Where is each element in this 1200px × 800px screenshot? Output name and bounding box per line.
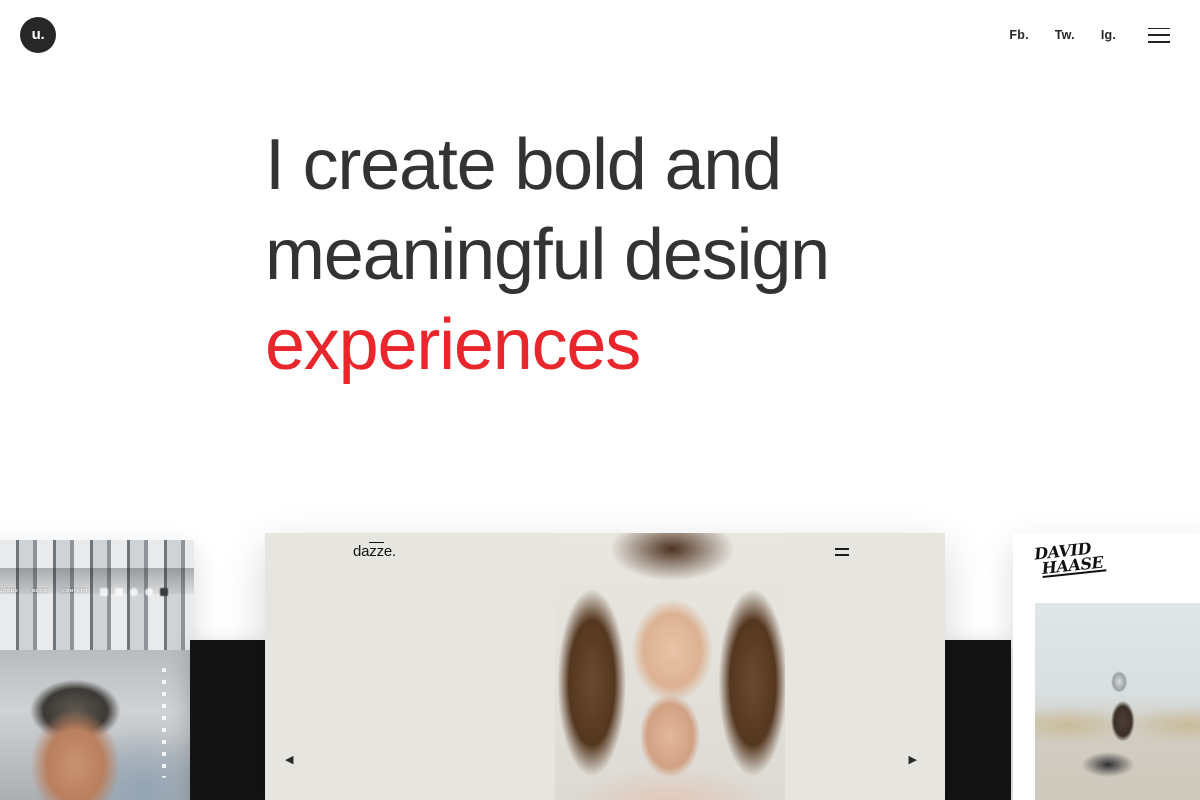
dazze-logo: dazze. bbox=[353, 543, 396, 560]
dazze-logo-suffix: e. bbox=[384, 543, 396, 560]
project-card-solucoes[interactable]: SOLUÇÕES BLOG CONTATO bbox=[0, 540, 194, 800]
dazze-logo-prefix: da bbox=[353, 543, 369, 560]
hero-headline-accent: experiences bbox=[265, 300, 1165, 390]
dark-slab-left bbox=[190, 640, 268, 800]
carousel-next-arrow-icon[interactable]: ▶ bbox=[909, 755, 917, 766]
dazze-logo-mid: zz bbox=[369, 542, 384, 560]
youtube-icon[interactable] bbox=[160, 588, 168, 596]
menu-line bbox=[1148, 34, 1170, 36]
nav-item-solucoes[interactable]: SOLUÇÕES bbox=[0, 588, 18, 593]
menu-line bbox=[1148, 28, 1170, 30]
dark-slab-right bbox=[943, 640, 1011, 800]
two-line-menu-icon[interactable] bbox=[835, 548, 849, 556]
facebook-icon[interactable] bbox=[100, 588, 108, 596]
social-link-instagram[interactable]: Ig. bbox=[1101, 28, 1116, 42]
nav-item-blog[interactable]: BLOG bbox=[32, 588, 47, 593]
instagram-icon[interactable] bbox=[145, 588, 153, 596]
hamburger-menu-icon[interactable] bbox=[1148, 28, 1170, 43]
brand-logo[interactable]: u. bbox=[20, 17, 56, 53]
card-social-icons bbox=[100, 588, 168, 596]
project-card-dazze[interactable]: dazze. ◀ ▶ bbox=[265, 533, 945, 800]
menu-line bbox=[835, 548, 849, 550]
hero-section: I create bold and meaningful design expe… bbox=[265, 120, 1165, 390]
project-showcase: SOLUÇÕES BLOG CONTATO dazze. ◀ ▶ DAVID bbox=[0, 500, 1200, 800]
logo-line-2: HAASE bbox=[1041, 554, 1106, 578]
social-link-twitter[interactable]: Tw. bbox=[1055, 28, 1075, 42]
man-portrait-photo bbox=[0, 650, 194, 800]
david-haase-logo: DAVID HAASE bbox=[1034, 539, 1107, 578]
card-nav: SOLUÇÕES BLOG CONTATO bbox=[0, 588, 87, 593]
hero-headline-line-2: meaningful design bbox=[265, 210, 1165, 300]
linkedin-icon[interactable] bbox=[115, 588, 123, 596]
header-nav: Fb. Tw. Ig. bbox=[1009, 28, 1170, 43]
woman-portrait-photo bbox=[555, 533, 785, 800]
whatsapp-icon[interactable] bbox=[130, 588, 138, 596]
menu-line bbox=[1148, 41, 1170, 43]
motorcyclist-photo bbox=[1035, 603, 1200, 800]
project-card-david-haase[interactable]: DAVID HAASE bbox=[1013, 533, 1200, 800]
nav-item-contato[interactable]: CONTATO bbox=[62, 588, 88, 593]
site-header: u. Fb. Tw. Ig. bbox=[0, 0, 1200, 70]
menu-line bbox=[835, 554, 849, 556]
carousel-prev-arrow-icon[interactable]: ◀ bbox=[285, 755, 293, 766]
social-link-facebook[interactable]: Fb. bbox=[1009, 28, 1028, 42]
hero-headline-line-1: I create bold and bbox=[265, 120, 1165, 210]
